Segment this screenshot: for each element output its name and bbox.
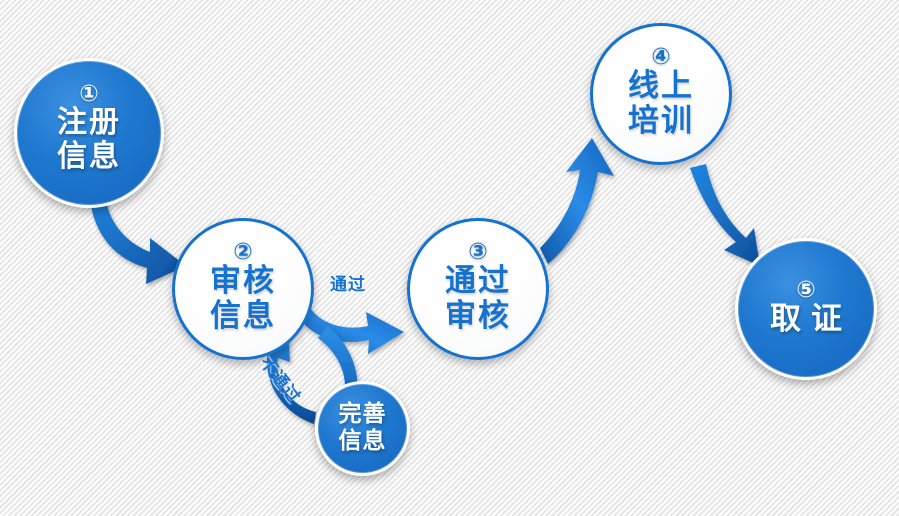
node-label-fix: 完善 信息: [339, 401, 387, 455]
arrow-3-to-4: [540, 138, 614, 264]
edge-label-fail: 不通过: [255, 350, 308, 408]
flow-node-approved[interactable]: ③ 通过 审核: [407, 218, 549, 360]
flowchart-canvas: 通过 不通过 ① 注册 信息 ② 审核 信息 ③ 通过 审核 ④ 线上 培训 ⑤…: [0, 0, 899, 516]
node-badge-1: ①: [79, 83, 98, 106]
flow-node-register[interactable]: ① 注册 信息: [14, 58, 164, 208]
edge-label-pass: 通过: [330, 270, 366, 295]
node-badge-2: ②: [233, 241, 252, 264]
node-label-3: 通过 审核: [445, 264, 511, 334]
node-badge-5: ⑤: [796, 279, 815, 302]
node-label-2: 审核 信息: [210, 264, 276, 334]
flow-node-review[interactable]: ② 审核 信息: [172, 218, 314, 360]
node-label-1: 注册 信息: [57, 106, 121, 174]
flow-node-complete-info[interactable]: 完善 信息: [315, 381, 410, 476]
node-label-5: 取证: [760, 302, 852, 337]
flow-node-online-training[interactable]: ④ 线上 培训: [590, 23, 732, 165]
node-badge-4: ④: [651, 46, 670, 69]
flow-node-certificate[interactable]: ⑤ 取证: [735, 238, 877, 380]
node-badge-3: ③: [468, 241, 487, 264]
arrow-4-to-5: [690, 164, 760, 266]
node-label-4: 线上 培训: [628, 69, 694, 139]
